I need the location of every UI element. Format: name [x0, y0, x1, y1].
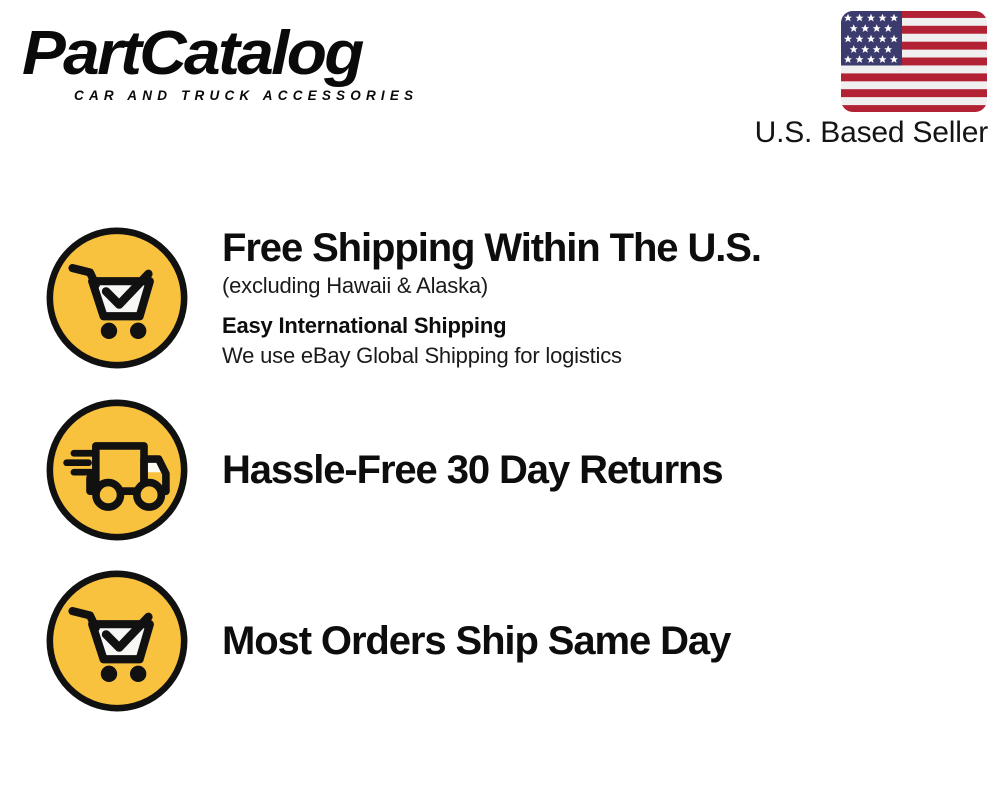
feature-sub-heading: Easy International Shipping	[222, 311, 984, 341]
feature-heading: Most Orders Ship Same Day	[222, 618, 984, 664]
feature-row-same-day: Most Orders Ship Same Day	[44, 568, 984, 714]
brand-wordmark: PartCatalog	[22, 22, 520, 86]
feature-text-same-day: Most Orders Ship Same Day	[222, 618, 984, 664]
seller-badge: U.S. Based Seller	[708, 10, 988, 150]
seller-label: U.S. Based Seller	[755, 116, 988, 150]
shopping-cart-check-icon	[44, 568, 190, 714]
us-flag-icon	[840, 10, 988, 113]
feature-row-returns: Hassle-Free 30 Day Returns	[44, 397, 984, 543]
feature-row-free-shipping: Free Shipping Within The U.S. (excluding…	[44, 225, 984, 371]
feature-sub-note: We use eBay Global Shipping for logistic…	[222, 341, 984, 371]
feature-heading: Free Shipping Within The U.S.	[222, 225, 984, 271]
brand-tagline: CAR AND TRUCK ACCESSORIES	[74, 88, 492, 103]
brand-logo[interactable]: PartCatalog CAR AND TRUCK ACCESSORIES	[22, 22, 492, 103]
shopping-cart-check-icon	[44, 225, 190, 371]
feature-heading: Hassle-Free 30 Day Returns	[222, 447, 984, 493]
feature-text-returns: Hassle-Free 30 Day Returns	[222, 447, 984, 493]
feature-note: (excluding Hawaii & Alaska)	[222, 271, 984, 301]
delivery-truck-icon	[44, 397, 190, 543]
feature-text-free-shipping: Free Shipping Within The U.S. (excluding…	[222, 225, 984, 371]
